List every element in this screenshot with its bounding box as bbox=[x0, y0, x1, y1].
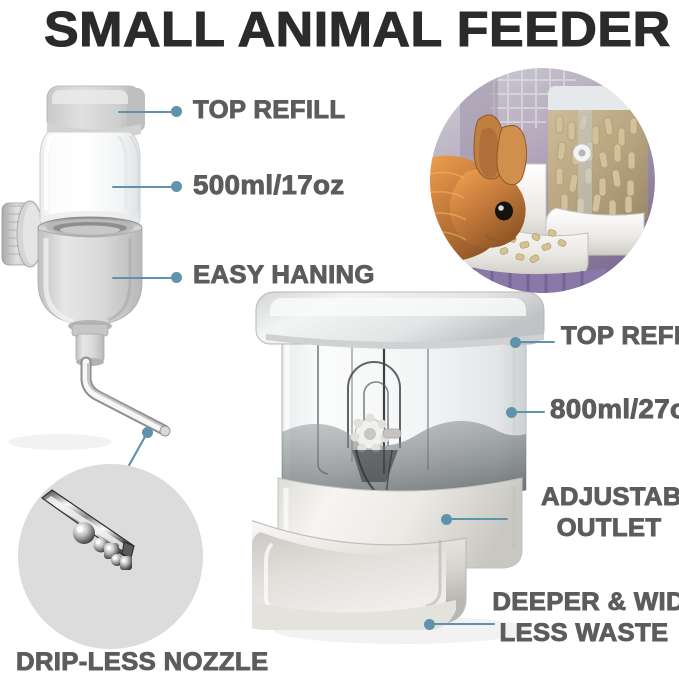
label-adjustable-outlet-line2: OUTLET bbox=[541, 514, 677, 543]
label-capacity-feeder: 800ml/27oz bbox=[550, 394, 679, 425]
label-deeper-wider-less-waste: DEEPER & WIDER LESS WASTE bbox=[495, 588, 673, 648]
nozzle-detail-circle bbox=[18, 464, 203, 649]
bottle-mount-clamp bbox=[2, 201, 43, 267]
water-droplet bbox=[120, 556, 132, 570]
water-droplet bbox=[73, 522, 95, 544]
callout-dot-nozzle bbox=[142, 427, 153, 438]
label-adjustable-outlet-line1: ADJUSTABLE bbox=[541, 483, 677, 512]
nozzle-detail-art bbox=[18, 464, 203, 649]
callout-dot-capacity-bottle bbox=[171, 181, 182, 192]
rabbit-photo-art bbox=[430, 68, 655, 293]
label-drip-less-nozzle: DRIP-LESS NOZZLE bbox=[16, 648, 268, 677]
label-capacity-bottle: 500ml/17oz bbox=[193, 170, 345, 201]
feeder-hopper bbox=[548, 86, 648, 220]
label-deeper-wider-line2: LESS WASTE bbox=[492, 619, 675, 648]
label-top-refill-bottle: TOP REFILL bbox=[193, 96, 345, 125]
label-adjustable-outlet: ADJUSTABLE OUTLET bbox=[543, 483, 675, 543]
infographic-canvas: SMALL ANIMAL FEEDER SET bbox=[0, 0, 679, 670]
label-deeper-wider-line1: DEEPER & WIDER bbox=[492, 588, 675, 617]
feeder-lid bbox=[256, 292, 544, 349]
callout-dot-top-refill bbox=[171, 106, 182, 117]
callout-dot-easy-hanging bbox=[171, 272, 182, 283]
page-title: SMALL ANIMAL FEEDER SET bbox=[44, 4, 679, 56]
label-top-refill-feeder: TOP REFILL bbox=[561, 322, 679, 351]
rabbit-photo-circle bbox=[430, 68, 655, 293]
